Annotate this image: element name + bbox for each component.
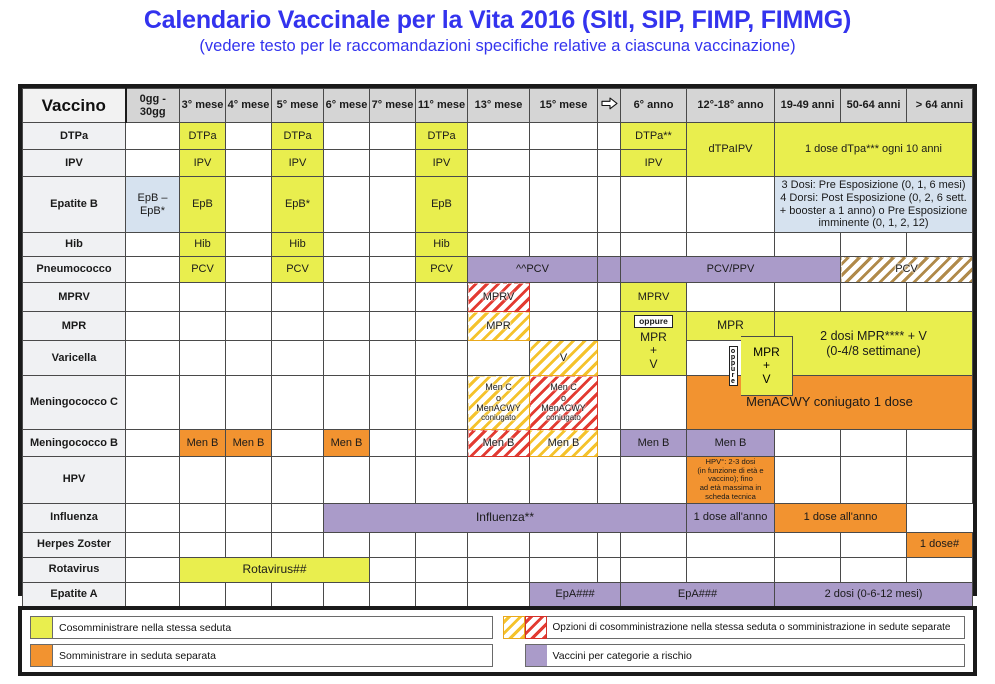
cell-epa-4m	[226, 582, 272, 607]
cell-epa-3m	[180, 582, 226, 607]
table-row-meningococco-b: Meningococco B Men B Men B Men B Men B M…	[23, 430, 973, 457]
cell-mpr-adult: 2 dosi MPR**** + V (0-4/8 settimane)	[775, 312, 973, 376]
cell-menb-15m: Men B	[530, 430, 598, 457]
table-row-hib: Hib Hib Hib Hib	[23, 233, 973, 257]
cell-hpv-arrow	[598, 457, 621, 504]
cell-mpr-7m	[370, 312, 416, 341]
mpr-plus-v-12-18-wrapper: MPR + V	[741, 336, 793, 396]
cell-var-7m	[370, 341, 416, 376]
table-row-herpes-zoster: Herpes Zoster 1 dose#	[23, 532, 973, 557]
cell-dtpa-0gg	[126, 123, 180, 150]
cell-menc-13m: Men C o MenACWY coniugato	[468, 376, 530, 430]
cell-flu-3m	[180, 503, 226, 532]
cell-dtpa-4m	[226, 123, 272, 150]
legend-swatch-yellow	[31, 617, 53, 638]
cell-mprv-12-18	[687, 283, 775, 312]
cell-hpv-note-l2: (in funzione di età e vaccino); fino	[689, 467, 772, 484]
cell-epa-13m	[468, 582, 530, 607]
header-col-6-mese: 6° mese	[324, 89, 370, 123]
cell-dtpa-3m: DTPa	[180, 123, 226, 150]
cell-epa-7m	[370, 582, 416, 607]
cell-menc-6anno	[621, 376, 687, 430]
cell-mpr-adult-line2: (0-4/8 settimane)	[776, 344, 971, 358]
cell-mprv-arrow	[598, 283, 621, 312]
cell-rota-7m	[370, 557, 416, 582]
cell-hz-11m	[416, 532, 468, 557]
cell-flu-4m	[226, 503, 272, 532]
row-label-meningococco-c: Meningococco C	[23, 376, 126, 430]
cell-rota-13m	[468, 557, 530, 582]
cell-epb-5m: EpB*	[272, 177, 324, 233]
cell-pcv-0gg	[126, 257, 180, 283]
cell-hib-6anno	[621, 233, 687, 257]
cell-mprv-15m	[530, 283, 598, 312]
cell-mprv-5m	[272, 283, 324, 312]
cell-dtpa-adult: 1 dose dTpa*** ogni 10 anni	[775, 123, 973, 177]
cell-dtpa-15m	[530, 123, 598, 150]
cell-mprv-19-49	[775, 283, 841, 312]
cell-epb-3m: EpB	[180, 177, 226, 233]
cell-hpv-15m	[530, 457, 598, 504]
legend-swatch-hatch-pair	[503, 616, 547, 639]
cell-hz-5m	[272, 532, 324, 557]
cell-epb-arrow	[598, 177, 621, 233]
legend-column-left: Cosomministrare nella stessa seduta Somm…	[30, 616, 493, 667]
cell-hpv-11m	[416, 457, 468, 504]
row-label-rotavirus: Rotavirus	[23, 557, 126, 582]
cell-menb-6anno: Men B	[621, 430, 687, 457]
row-label-meningococco-b: Meningococco B	[23, 430, 126, 457]
cell-menb-13m: Men B	[468, 430, 530, 457]
legend-item-categorie-rischio: Vaccini per categorie a rischio	[503, 644, 966, 667]
cell-menc-15m-l2: o	[531, 393, 596, 403]
cell-pcv-4m	[226, 257, 272, 283]
cell-ipv-6m	[324, 150, 370, 177]
cell-rota-over64	[907, 557, 973, 582]
cell-hpv-5m	[272, 457, 324, 504]
cell-menb-50-64	[841, 430, 907, 457]
cell-menb-0gg	[126, 430, 180, 457]
cell-mpr-4m	[226, 312, 272, 341]
cell-pcv-arrow	[598, 257, 621, 283]
table-row-epatite-b: Epatite B EpB – EpB* EpB EpB* EpB 3 Dosi…	[23, 177, 973, 233]
cell-menc-13m-l1: Men C	[469, 382, 528, 392]
cell-menc-arrow	[598, 376, 621, 430]
cell-menc-adult: MenACWY coniugato 1 dose	[687, 376, 973, 430]
cell-var-15m: V	[530, 341, 598, 376]
cell-hpv-over64	[907, 457, 973, 504]
cell-menb-11m	[416, 430, 468, 457]
row-label-dtpa: DTPa	[23, 123, 126, 150]
cell-epb-0gg: EpB – EpB*	[126, 177, 180, 233]
cell-hpv-4m	[226, 457, 272, 504]
cell-mpr-13m: MPR	[468, 312, 530, 341]
row-label-epatite-b: Epatite B	[23, 177, 126, 233]
legend-grid: Cosomministrare nella stessa seduta Somm…	[30, 616, 965, 666]
header-col-12-18-anno: 12°-18° anno	[687, 89, 775, 123]
page-subtitle: (vedere testo per le raccomandazioni spe…	[0, 33, 995, 56]
cell-menc-11m	[416, 376, 468, 430]
cell-hpv-19-49	[775, 457, 841, 504]
table-row-mprv: MPRV MPRV MPRV	[23, 283, 973, 312]
cell-pcv-13-15m: ^^PCV	[468, 257, 598, 283]
legend-item-cosomministrare: Cosomministrare nella stessa seduta	[30, 616, 493, 639]
table-row-rotavirus: Rotavirus Rotavirus##	[23, 557, 973, 582]
cell-ipv-3m: IPV	[180, 150, 226, 177]
cell-ipv-15m	[530, 150, 598, 177]
cell-var-15m-label: V	[560, 352, 567, 364]
cell-menc-4m	[226, 376, 272, 430]
row-label-mprv: MPRV	[23, 283, 126, 312]
cell-flu-senior: 1 dose all'anno	[775, 503, 907, 532]
header-col-15-mese: 15° mese	[530, 89, 598, 123]
table-row-influenza: Influenza Influenza** 1 dose all'anno 1 …	[23, 503, 973, 532]
cell-pcv-7m	[370, 257, 416, 283]
cell-ipv-arrow	[598, 150, 621, 177]
cell-menc-15m-l1: Men C	[531, 382, 596, 392]
cell-var-5m	[272, 341, 324, 376]
cell-menb-15m-label: Men B	[548, 437, 580, 449]
cell-hpv-6anno	[621, 457, 687, 504]
cell-epb-6anno	[621, 177, 687, 233]
cell-hz-over64: 1 dose#	[907, 532, 973, 557]
header-col-50-64-anni: 50-64 anni	[841, 89, 907, 123]
cell-mpr-arrow	[598, 312, 621, 341]
cell-mprv-4m	[226, 283, 272, 312]
legend-column-right: Opzioni di cosomministrazione nella stes…	[503, 616, 966, 667]
cell-flu-19-49: 1 dose all'anno	[687, 503, 775, 532]
cell-var-6m	[324, 341, 370, 376]
header-col-4-mese: 4° mese	[226, 89, 272, 123]
cell-epb-adult-note: 3 Dosi: Pre Esposizione (0, 1, 6 mesi) 4…	[775, 177, 973, 233]
cell-hpv-0gg	[126, 457, 180, 504]
cell-menc-0gg	[126, 376, 180, 430]
cell-flu-0gg	[126, 503, 180, 532]
cell-rota-15m	[530, 557, 598, 582]
cell-hz-6m	[324, 532, 370, 557]
header-col-0gg-30gg: 0gg - 30gg	[126, 89, 180, 123]
cell-mpr-6anno-mprv: MPR + V	[640, 329, 667, 372]
cell-hib-5m: Hib	[272, 233, 324, 257]
cell-mpr-6anno: oppure MPR + V	[621, 312, 687, 376]
cell-epb-6m	[324, 177, 370, 233]
cell-var-0gg	[126, 341, 180, 376]
cell-menb-arrow	[598, 430, 621, 457]
cell-menb-3m: Men B	[180, 430, 226, 457]
cell-menb-over64	[907, 430, 973, 457]
cell-mprv-7m	[370, 283, 416, 312]
cell-dtpa-arrow	[598, 123, 621, 150]
cell-pcv-6m	[324, 257, 370, 283]
table-row-pneumococco: Pneumococco PCV PCV PCV ^^PCV PCV/PPV PC…	[23, 257, 973, 283]
cell-hpv-3m	[180, 457, 226, 504]
header-col-7-mese: 7° mese	[370, 89, 416, 123]
legend-label-categorie-rischio: Vaccini per categorie a rischio	[547, 644, 966, 667]
cell-hz-15m	[530, 532, 598, 557]
cell-menb-7m	[370, 430, 416, 457]
cell-hib-over64	[907, 233, 973, 257]
cell-epa-adult: 2 dosi (0-6-12 mesi)	[775, 582, 973, 607]
row-label-mpr: MPR	[23, 312, 126, 341]
cell-hz-0gg	[126, 532, 180, 557]
vaccination-schedule-table: Vaccino 0gg - 30gg 3° mese 4° mese 5° me…	[22, 88, 973, 608]
legend-container: Cosomministrare nella stessa seduta Somm…	[18, 606, 977, 676]
cell-menb-4m: Men B	[226, 430, 272, 457]
cell-hib-4m	[226, 233, 272, 257]
cell-dtpa-7m	[370, 123, 416, 150]
cell-menb-12-18: Men B	[687, 430, 775, 457]
cell-menc-15m: Men C o MenACWY coniugato	[530, 376, 598, 430]
header-col-13-mese: 13° mese	[468, 89, 530, 123]
cell-mprv-6m	[324, 283, 370, 312]
cell-hz-6anno	[621, 532, 687, 557]
cell-hib-19-49	[775, 233, 841, 257]
cell-hib-11m: Hib	[416, 233, 468, 257]
calendar-table-container: Vaccino 0gg - 30gg 3° mese 4° mese 5° me…	[18, 84, 977, 596]
cell-hz-7m	[370, 532, 416, 557]
cell-pcv-3m: PCV	[180, 257, 226, 283]
row-label-influenza: Influenza	[23, 503, 126, 532]
table-header-row: Vaccino 0gg - 30gg 3° mese 4° mese 5° me…	[23, 89, 973, 123]
row-label-hpv: HPV	[23, 457, 126, 504]
cell-var-11m	[416, 341, 468, 376]
cell-dtpa-11m: DTPa	[416, 123, 468, 150]
header-col-6-anno: 6° anno	[621, 89, 687, 123]
cell-menc-6m	[324, 376, 370, 430]
cell-flu-5m	[272, 503, 324, 532]
cell-mprv-11m	[416, 283, 468, 312]
cell-mpr-3m	[180, 312, 226, 341]
cell-rota-11m	[416, 557, 468, 582]
cell-mpr-0gg	[126, 312, 180, 341]
cell-menc-5m	[272, 376, 324, 430]
cell-var-4m	[226, 341, 272, 376]
legend-label-cosomministrare: Cosomministrare nella stessa seduta	[53, 617, 492, 638]
cell-mprv-0gg	[126, 283, 180, 312]
cell-hib-6m	[324, 233, 370, 257]
cell-hpv-note-l3: ad età massima in scheda tecnica	[689, 484, 772, 501]
cell-ipv-0gg	[126, 150, 180, 177]
cell-hib-3m: Hib	[180, 233, 226, 257]
cell-mpr-13m-label: MPR	[486, 320, 510, 332]
cell-ipv-5m: IPV	[272, 150, 324, 177]
legend-swatch-orange	[31, 645, 53, 666]
cell-hib-0gg	[126, 233, 180, 257]
cell-mprv-50-64	[841, 283, 907, 312]
cell-dtpa-13m	[468, 123, 530, 150]
legend-label-seduta-separata: Somministrare in seduta separata	[53, 645, 492, 666]
cell-rota-50-64	[841, 557, 907, 582]
cell-hz-50-64	[841, 532, 907, 557]
cell-mprv-3m	[180, 283, 226, 312]
legend-swatch-purple	[525, 644, 547, 667]
cell-mprv-over64	[907, 283, 973, 312]
cell-var-3m	[180, 341, 226, 376]
cell-menb-13m-label: Men B	[483, 437, 515, 449]
cell-menc-3m	[180, 376, 226, 430]
cell-menb-5m	[272, 430, 324, 457]
vaccination-calendar-page: Calendario Vaccinale per la Vita 2016 (S…	[0, 0, 995, 684]
cell-pcv-11m: PCV	[416, 257, 468, 283]
cell-mprv-6anno: MPRV	[621, 283, 687, 312]
cell-hz-4m	[226, 532, 272, 557]
page-title: Calendario Vaccinale per la Vita 2016 (S…	[0, 0, 995, 33]
cell-epa-11m	[416, 582, 468, 607]
cell-hpv-7m	[370, 457, 416, 504]
cell-menc-13m-l2: o	[469, 393, 528, 403]
cell-ipv-6anno: IPV	[621, 150, 687, 177]
cell-epa-6-18: EpA###	[621, 582, 775, 607]
cell-epb-13m	[468, 177, 530, 233]
cell-hpv-12-18: HPV°: 2-3 dosi (in funzione di età e vac…	[687, 457, 775, 504]
arrow-right-icon	[598, 89, 621, 123]
cell-var-13m	[468, 341, 530, 376]
cell-hib-50-64	[841, 233, 907, 257]
cell-rota-0gg	[126, 557, 180, 582]
cell-mpr-6m	[324, 312, 370, 341]
cell-ipv-11m: IPV	[416, 150, 468, 177]
cell-pcv-senior-label: PCV	[895, 263, 918, 275]
row-label-herpes-zoster: Herpes Zoster	[23, 532, 126, 557]
header-vaccine: Vaccino	[23, 89, 126, 123]
cell-hpv-6m	[324, 457, 370, 504]
cell-hib-7m	[370, 233, 416, 257]
legend-label-opzioni: Opzioni di cosomministrazione nella stes…	[547, 616, 966, 639]
cell-dtpa-12-18: dTPaIPV	[687, 123, 775, 177]
cell-menc-7m	[370, 376, 416, 430]
legend-item-opzioni: Opzioni di cosomministrazione nella stes…	[503, 616, 966, 639]
cell-var-arrow	[598, 341, 621, 376]
cell-epa-15m: EpA###	[530, 582, 621, 607]
cell-menb-6m: Men B	[324, 430, 370, 457]
table-row-mpr: MPR MPR oppure	[23, 312, 973, 341]
arrow-right-icon-svg	[601, 97, 618, 110]
cell-rota-19-49	[775, 557, 841, 582]
cell-ipv-4m	[226, 150, 272, 177]
cell-ipv-7m	[370, 150, 416, 177]
cell-menc-15m-l3: MenACWY	[531, 403, 596, 413]
legend-item-seduta-separata: Somministrare in seduta separata	[30, 644, 493, 667]
table-row-epatite-a: Epatite A EpA### EpA### 2 dosi (0-6-12 m…	[23, 582, 973, 607]
row-label-pneumococco: Pneumococco	[23, 257, 126, 283]
cell-hz-12-18	[687, 532, 775, 557]
cell-hib-arrow	[598, 233, 621, 257]
cell-epb-7m	[370, 177, 416, 233]
cell-hz-3m	[180, 532, 226, 557]
cell-ipv-13m	[468, 150, 530, 177]
cell-epa-6m	[324, 582, 370, 607]
cell-epb-4m	[226, 177, 272, 233]
cell-pcv-6anno-49: PCV/PPV	[621, 257, 841, 283]
header-col-19-49-anni: 19-49 anni	[775, 89, 841, 123]
cell-epb-11m: EpB	[416, 177, 468, 233]
oppure-badge-6anno: oppure	[634, 315, 673, 328]
cell-mprv-13m-label: MPRV	[483, 291, 515, 303]
legend-swatch-hatch-yellow	[503, 616, 525, 639]
cell-rota-6anno	[621, 557, 687, 582]
cell-menc-15m-l4: coniugato	[531, 413, 596, 422]
cell-rota-12-18	[687, 557, 775, 582]
cell-mpr-adult-line1: 2 dosi MPR**** + V	[776, 329, 971, 343]
cell-hpv-13m	[468, 457, 530, 504]
cell-mpr-15m	[530, 312, 598, 341]
cell-dtpa-6m	[324, 123, 370, 150]
cell-menc-13m-l4: coniugato	[469, 413, 528, 422]
cell-epa-5m	[272, 582, 324, 607]
row-label-hib: Hib	[23, 233, 126, 257]
cell-epb-12-18	[687, 177, 775, 233]
header-col-3-mese: 3° mese	[180, 89, 226, 123]
cell-flu-child: Influenza**	[324, 503, 687, 532]
table-row-dtpa: DTPa DTPa DTPa DTPa DTPa** dTPaIPV 1 dos…	[23, 123, 973, 150]
cell-hib-13m	[468, 233, 530, 257]
cell-hz-13m	[468, 532, 530, 557]
header-col-5-mese: 5° mese	[272, 89, 324, 123]
cell-mpr-11m	[416, 312, 468, 341]
cell-pcv-5m: PCV	[272, 257, 324, 283]
cell-mpr-5m	[272, 312, 324, 341]
cell-hz-arrow	[598, 532, 621, 557]
row-label-ipv: IPV	[23, 150, 126, 177]
cell-dtpa-5m: DTPa	[272, 123, 324, 150]
header-col-over-64: > 64 anni	[907, 89, 973, 123]
legend-swatch-purple-wrap	[503, 644, 547, 667]
cell-hz-19-49	[775, 532, 841, 557]
cell-epb-15m	[530, 177, 598, 233]
header-col-11-mese: 11° mese	[416, 89, 468, 123]
cell-rota-arrow	[598, 557, 621, 582]
cell-menb-19-49	[775, 430, 841, 457]
cell-rota-infant: Rotavirus##	[180, 557, 370, 582]
row-label-epatite-a: Epatite A	[23, 582, 126, 607]
cell-hpv-50-64	[841, 457, 907, 504]
cell-pcv-senior: PCV	[841, 257, 973, 283]
cell-mprv-13m: MPRV	[468, 283, 530, 312]
legend-swatch-hatch-red	[525, 616, 547, 639]
row-label-varicella: Varicella	[23, 341, 126, 376]
cell-epa-0gg	[126, 582, 180, 607]
cell-menc-13m-l3: MenACWY	[469, 403, 528, 413]
table-row-meningococco-c: Meningococco C Men C o MenACWY coniugato	[23, 376, 973, 430]
cell-hib-15m	[530, 233, 598, 257]
cell-hib-12-18	[687, 233, 775, 257]
table-row-hpv: HPV HPV°: 2-3 dosi (in funzione di età e…	[23, 457, 973, 504]
cell-dtpa-6anno: DTPa**	[621, 123, 687, 150]
